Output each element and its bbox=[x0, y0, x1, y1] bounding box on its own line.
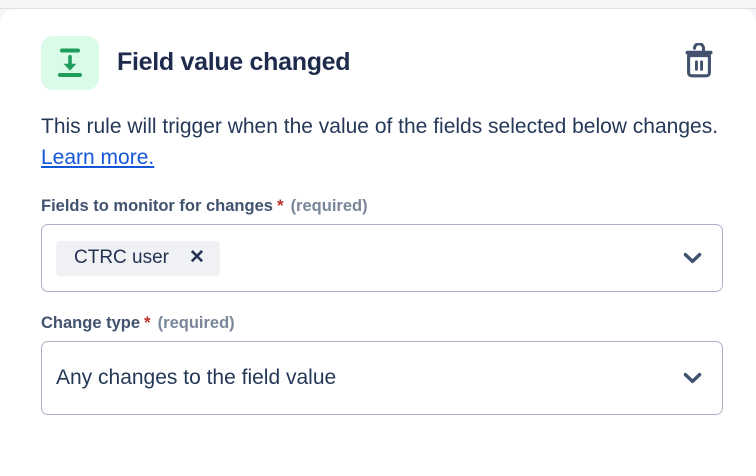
change-type-label: Change type * (required) bbox=[41, 313, 723, 333]
change-type-group: Change type * (required) Any changes to … bbox=[41, 313, 723, 415]
fields-to-monitor-group: Fields to monitor for changes * (require… bbox=[41, 196, 723, 292]
fields-to-monitor-label: Fields to monitor for changes * (require… bbox=[41, 196, 723, 216]
selected-field-chip-label: CTRC user bbox=[74, 247, 169, 269]
fields-to-monitor-select[interactable]: CTRC user ✕ bbox=[41, 224, 723, 292]
chevron-down-icon[interactable] bbox=[683, 252, 702, 264]
card-header: Field value changed bbox=[41, 9, 723, 89]
rule-trigger-card: Field value changed bbox=[0, 9, 756, 476]
required-asterisk: * bbox=[277, 196, 284, 216]
page-title: Field value changed bbox=[117, 48, 350, 77]
field-value-changed-icon bbox=[41, 36, 99, 90]
required-hint: (required) bbox=[291, 197, 368, 216]
page-background-strip bbox=[0, 0, 756, 9]
selected-field-chip[interactable]: CTRC user ✕ bbox=[56, 241, 220, 276]
change-type-selected-value: Any changes to the field value bbox=[56, 366, 336, 390]
close-icon[interactable]: ✕ bbox=[187, 246, 207, 271]
required-asterisk: * bbox=[144, 313, 151, 333]
change-type-select[interactable]: Any changes to the field value bbox=[41, 341, 723, 415]
automation-rule-component-editor: Field value changed bbox=[0, 0, 756, 476]
change-type-label-text: Change type bbox=[41, 314, 140, 333]
trash-icon bbox=[682, 43, 716, 82]
delete-rule-button[interactable] bbox=[679, 41, 719, 85]
learn-more-link[interactable]: Learn more. bbox=[41, 146, 154, 169]
rule-description-text: This rule will trigger when the value of… bbox=[41, 115, 718, 138]
required-hint: (required) bbox=[158, 314, 235, 333]
chevron-down-icon[interactable] bbox=[683, 372, 702, 384]
fields-to-monitor-label-text: Fields to monitor for changes bbox=[41, 197, 273, 216]
rule-description: This rule will trigger when the value of… bbox=[41, 111, 721, 173]
